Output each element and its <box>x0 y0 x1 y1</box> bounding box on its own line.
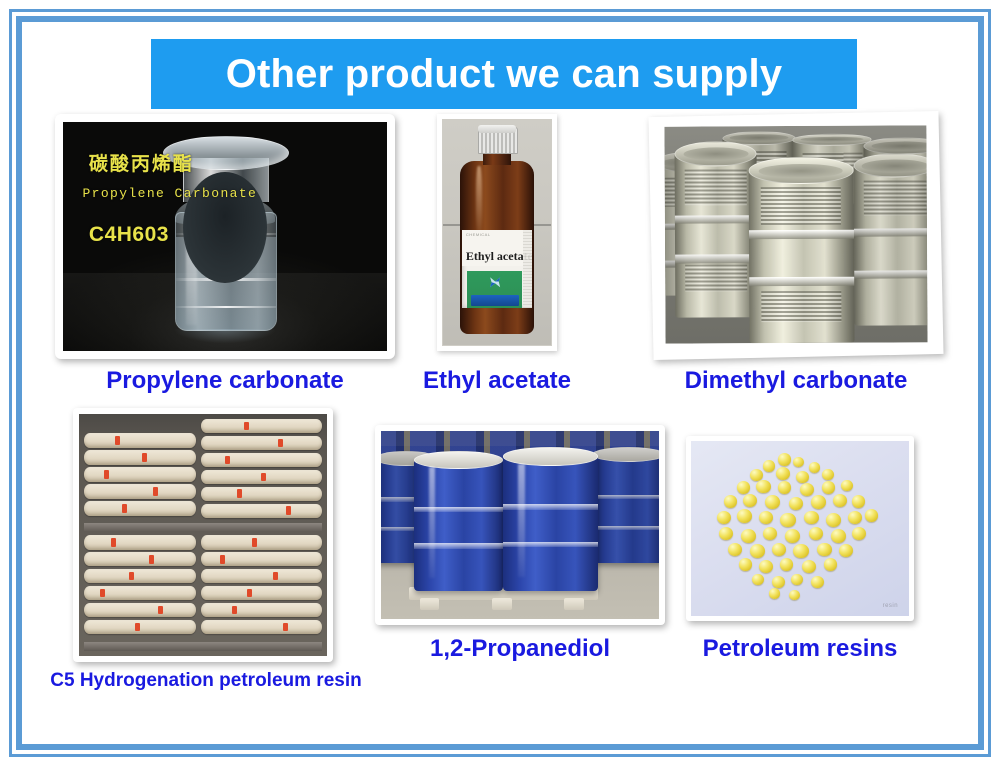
photo-background: CHEMICAL Ethyl acetate 乙酸乙酯 <box>443 120 551 345</box>
overlay-chinese-name: 碳酸丙烯酯 <box>89 149 194 176</box>
resin-granule <box>778 481 791 493</box>
sack-tag <box>232 606 237 615</box>
product-caption-dimethyl-carbonate: Dimethyl carbonate <box>651 367 941 395</box>
sack-tag <box>153 487 158 496</box>
drum-band <box>854 270 928 278</box>
blue-drum <box>414 459 503 591</box>
resin-granule <box>778 453 791 465</box>
label-fineprint: CHEMICAL <box>466 232 491 237</box>
sack <box>201 419 323 434</box>
resin-granule <box>809 527 823 540</box>
sack-tag <box>122 504 127 513</box>
sack-tag <box>129 572 134 581</box>
resin-granule <box>763 460 775 471</box>
sack <box>201 453 323 468</box>
sack <box>84 450 196 465</box>
drum-ribbing <box>863 180 927 216</box>
resin-granule <box>728 543 742 556</box>
metal-drum <box>748 169 854 343</box>
overlay-formula: C4H603 <box>89 223 169 247</box>
label-green-band <box>467 271 522 308</box>
resin-granule <box>759 511 773 524</box>
resin-granule <box>756 480 770 493</box>
resin-granule <box>763 527 777 540</box>
sack <box>84 433 196 448</box>
granule-pile <box>691 441 909 616</box>
page-title: Other product we can supply <box>226 52 783 97</box>
brand-logo-icon <box>488 274 502 290</box>
sack-tag <box>261 473 266 482</box>
product-photo-dimethyl-carbonate <box>664 125 927 343</box>
drum-ribbing <box>762 291 842 323</box>
resin-granule <box>741 529 756 543</box>
product-photo-petroleum-resins: resin <box>691 441 909 616</box>
resin-granule <box>737 509 752 523</box>
drum-ring <box>592 526 659 530</box>
amber-bottle: CHEMICAL Ethyl acetate 乙酸乙酯 <box>457 127 537 339</box>
product-photo-c5-resin <box>79 414 327 656</box>
sack-tag <box>111 538 116 547</box>
sack <box>201 603 323 618</box>
drum-glare <box>429 467 435 578</box>
resin-granule <box>724 495 737 507</box>
drum-band <box>749 230 854 239</box>
bottle-label: CHEMICAL Ethyl acetate 乙酸乙酯 <box>462 230 533 308</box>
resin-granule <box>848 511 862 524</box>
sack <box>201 535 323 550</box>
resin-granule <box>789 497 803 510</box>
sack <box>84 586 196 601</box>
metal-drum <box>853 164 927 325</box>
resin-granule <box>865 509 878 521</box>
pallet-foot <box>492 598 511 609</box>
product-caption-c5-resin: C5 Hydrogenation petroleum resin <box>36 670 376 692</box>
product-photo-frame-c5-resin <box>73 408 333 662</box>
sack-tag <box>252 538 257 547</box>
resin-granule <box>785 529 800 543</box>
resin-granule <box>852 527 866 540</box>
sack-tag <box>104 470 109 479</box>
resin-granule <box>717 511 731 524</box>
slide-root: Other product we can supply <box>0 0 1000 766</box>
sack-tag <box>273 572 278 581</box>
resin-granule <box>817 543 831 556</box>
sack-tag <box>158 606 163 615</box>
sack <box>84 552 196 567</box>
resin-granule <box>772 543 786 556</box>
sack <box>84 484 196 499</box>
bottle-glare <box>476 166 481 235</box>
product-photo-frame-dimethyl-carbonate <box>648 111 943 360</box>
sack <box>201 552 323 567</box>
sack-tag <box>149 555 154 564</box>
pallet-foot <box>564 598 583 609</box>
resin-granule <box>841 480 853 491</box>
sack-tag <box>135 623 140 632</box>
resin-granule <box>802 560 816 573</box>
drum-ribbing <box>761 187 841 226</box>
photo-background: resin <box>691 441 909 616</box>
resin-granule <box>822 481 835 493</box>
resin-granule <box>793 457 804 468</box>
sack-tag <box>244 422 249 431</box>
product-photo-frame-propylene-carbonate: 碳酸丙烯酯 Propylene Carbonate C4H603 <box>55 114 395 359</box>
sack-tag <box>278 439 283 448</box>
resin-granule <box>750 544 765 558</box>
slide-content-area: Other product we can supply <box>22 22 978 744</box>
resin-granule <box>839 544 853 557</box>
product-photo-frame-propanediol <box>375 425 665 625</box>
resin-granule <box>752 574 764 585</box>
drum-band <box>675 215 756 224</box>
bottle-cap-top <box>478 125 516 133</box>
sack-tag <box>115 436 120 445</box>
sack-tag <box>286 506 291 515</box>
resin-granule <box>833 494 847 507</box>
photo-background <box>79 414 327 656</box>
resin-granule <box>800 483 814 496</box>
resin-granule <box>719 527 733 540</box>
resin-granule <box>793 544 808 558</box>
bottle-reflection <box>175 329 276 343</box>
resin-granule <box>811 576 824 588</box>
resin-granule <box>789 590 800 601</box>
sack <box>201 436 323 451</box>
drum-ribbing <box>685 169 747 206</box>
drum-ring <box>592 495 659 499</box>
product-photo-frame-ethyl-acetate: CHEMICAL Ethyl acetate 乙酸乙酯 <box>437 114 557 351</box>
drum-band <box>854 229 928 237</box>
product-caption-petroleum-resins: Petroleum resins <box>676 635 924 663</box>
resin-granule <box>780 513 795 527</box>
product-photo-frame-petroleum-resins: resin <box>686 436 914 621</box>
sack <box>84 501 196 516</box>
drum-band <box>749 277 854 286</box>
sack-tag <box>225 456 230 465</box>
drum-band <box>676 254 757 263</box>
metal-drum <box>675 152 757 317</box>
product-caption-propanediol: 1,2-Propanediol <box>375 635 665 663</box>
sack-tag <box>142 453 147 462</box>
product-photo-propanediol <box>381 431 659 619</box>
drum-rim <box>592 447 659 462</box>
sack <box>201 470 323 485</box>
overlay-english-name: Propylene Carbonate <box>82 186 257 201</box>
photo-background <box>381 431 659 619</box>
resin-granule <box>737 481 750 493</box>
sack <box>84 569 196 584</box>
resin-granule <box>772 576 785 588</box>
resin-granule <box>765 495 780 509</box>
resin-granule <box>822 469 834 480</box>
sack-stack <box>84 414 196 656</box>
product-photo-ethyl-acetate: CHEMICAL Ethyl acetate 乙酸乙酯 <box>442 119 552 346</box>
sack <box>201 569 323 584</box>
sack <box>84 620 196 635</box>
pallet-foot <box>420 598 439 609</box>
resin-granule <box>791 574 803 585</box>
sack <box>201 487 323 502</box>
blue-drum <box>592 454 659 563</box>
sack-tag <box>100 589 105 598</box>
resin-granule <box>811 495 826 509</box>
drum-ribbing <box>685 264 747 291</box>
sack <box>201 620 323 635</box>
resin-granule <box>804 511 818 524</box>
sack-tag <box>220 555 225 564</box>
product-caption-propylene-carbonate: Propylene carbonate <box>55 367 395 395</box>
sack <box>201 586 323 601</box>
product-photo-propylene-carbonate: 碳酸丙烯酯 Propylene Carbonate C4H603 <box>63 122 387 351</box>
title-banner: Other product we can supply <box>151 39 857 109</box>
sack <box>84 603 196 618</box>
resin-granule <box>831 529 846 543</box>
resin-granule <box>739 558 752 570</box>
resin-granule <box>852 495 865 507</box>
resin-granule <box>809 462 820 473</box>
resin-granule <box>796 471 809 483</box>
sack-tag <box>247 589 252 598</box>
sack <box>84 467 196 482</box>
sack-stack <box>201 414 323 656</box>
photo-background <box>664 125 927 343</box>
photo-watermark: resin <box>883 603 899 609</box>
sack-tag <box>283 623 288 632</box>
resin-granule <box>826 513 841 527</box>
resin-granule <box>769 588 780 599</box>
sack <box>84 535 196 550</box>
resin-granule <box>776 467 790 480</box>
product-caption-ethyl-acetate: Ethyl acetate <box>407 367 587 395</box>
resin-granule <box>824 558 837 570</box>
label-side-text-block <box>523 230 532 308</box>
resin-granule <box>780 558 793 570</box>
photo-background: 碳酸丙烯酯 Propylene Carbonate C4H603 <box>63 122 387 351</box>
blue-drum <box>503 455 598 590</box>
resin-granule <box>743 494 757 507</box>
label-blue-bar <box>471 295 519 305</box>
sack-tag <box>237 489 242 498</box>
sack <box>201 504 323 519</box>
drum-glare <box>518 464 525 578</box>
bottle-body: CHEMICAL Ethyl acetate 乙酸乙酯 <box>460 161 534 334</box>
resin-granule <box>759 560 773 573</box>
